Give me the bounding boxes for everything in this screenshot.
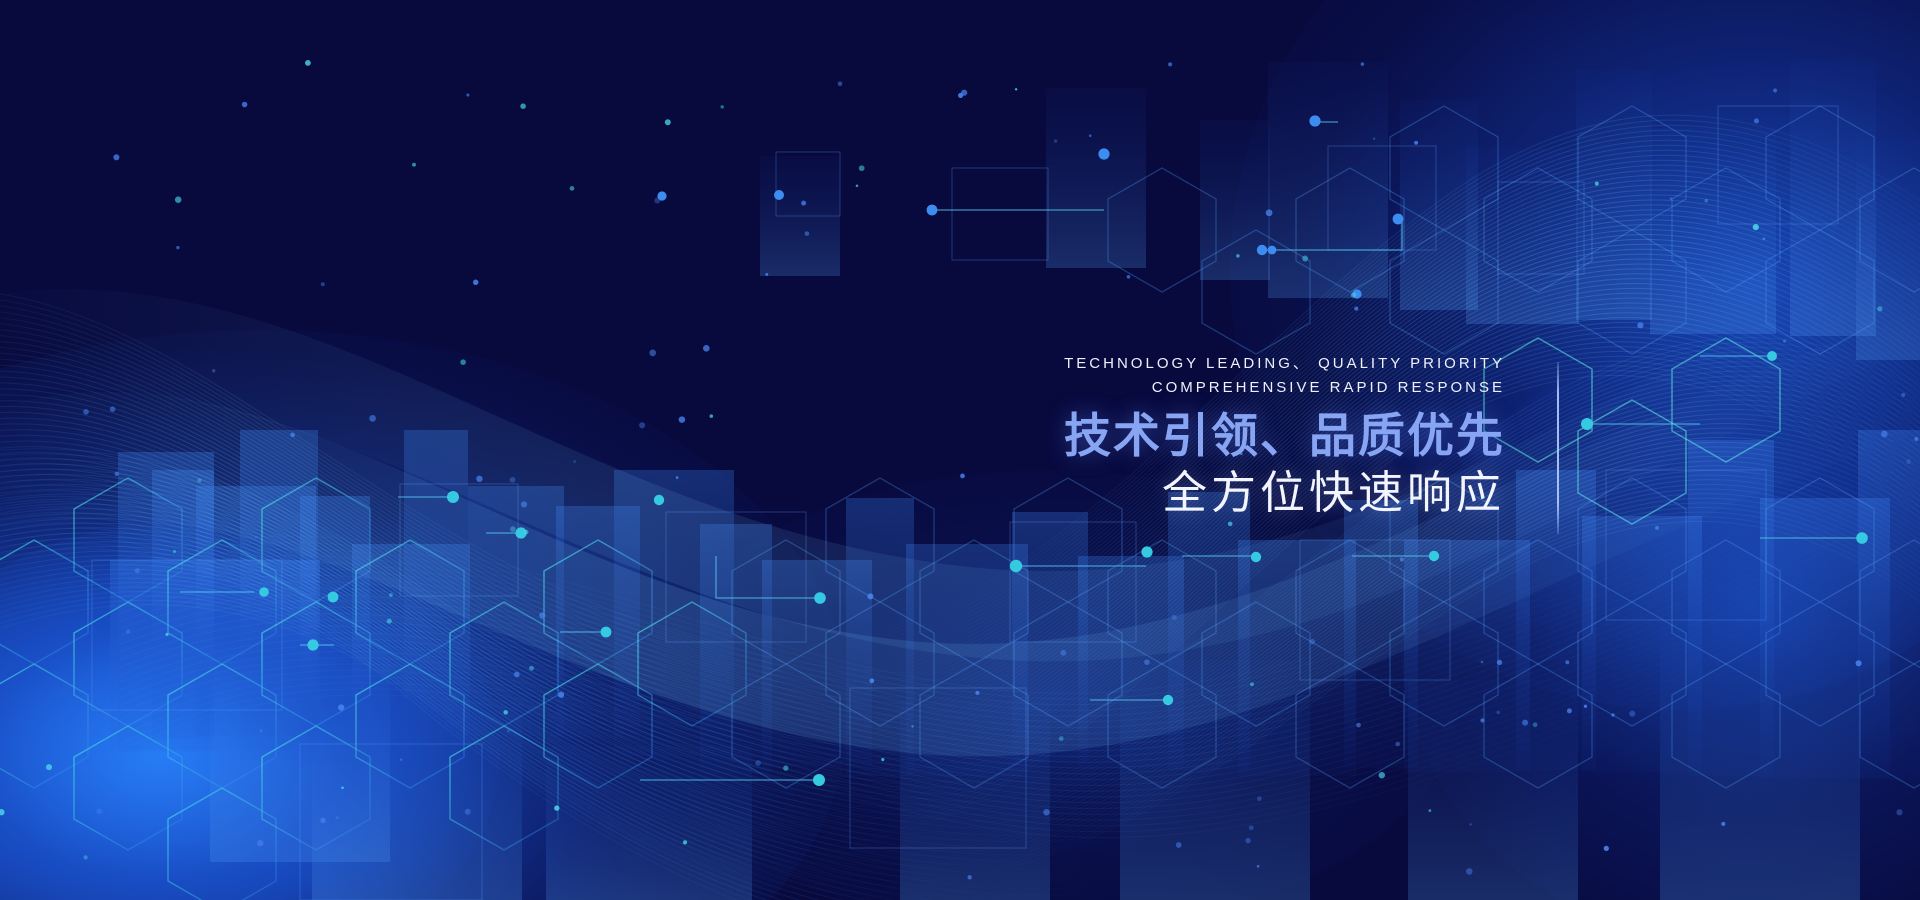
vertical-divider [1557,362,1559,534]
glow-center [640,470,1460,900]
english-headline-line-1: TECHNOLOGY LEADING、 QUALITY PRIORITY [900,352,1505,376]
headline-block: TECHNOLOGY LEADING、 QUALITY PRIORITY COM… [900,352,1505,521]
chinese-headline-line-2: 全方位快速响应 [900,465,1505,521]
hero-banner: TECHNOLOGY LEADING、 QUALITY PRIORITY COM… [0,0,1920,900]
glow-left-core [0,520,500,900]
glow-left [0,330,850,900]
chinese-headline-line-1: 技术引领、品质优先 [900,407,1505,465]
english-headline-line-2: COMPREHENSIVE RAPID RESPONSE [900,376,1505,400]
